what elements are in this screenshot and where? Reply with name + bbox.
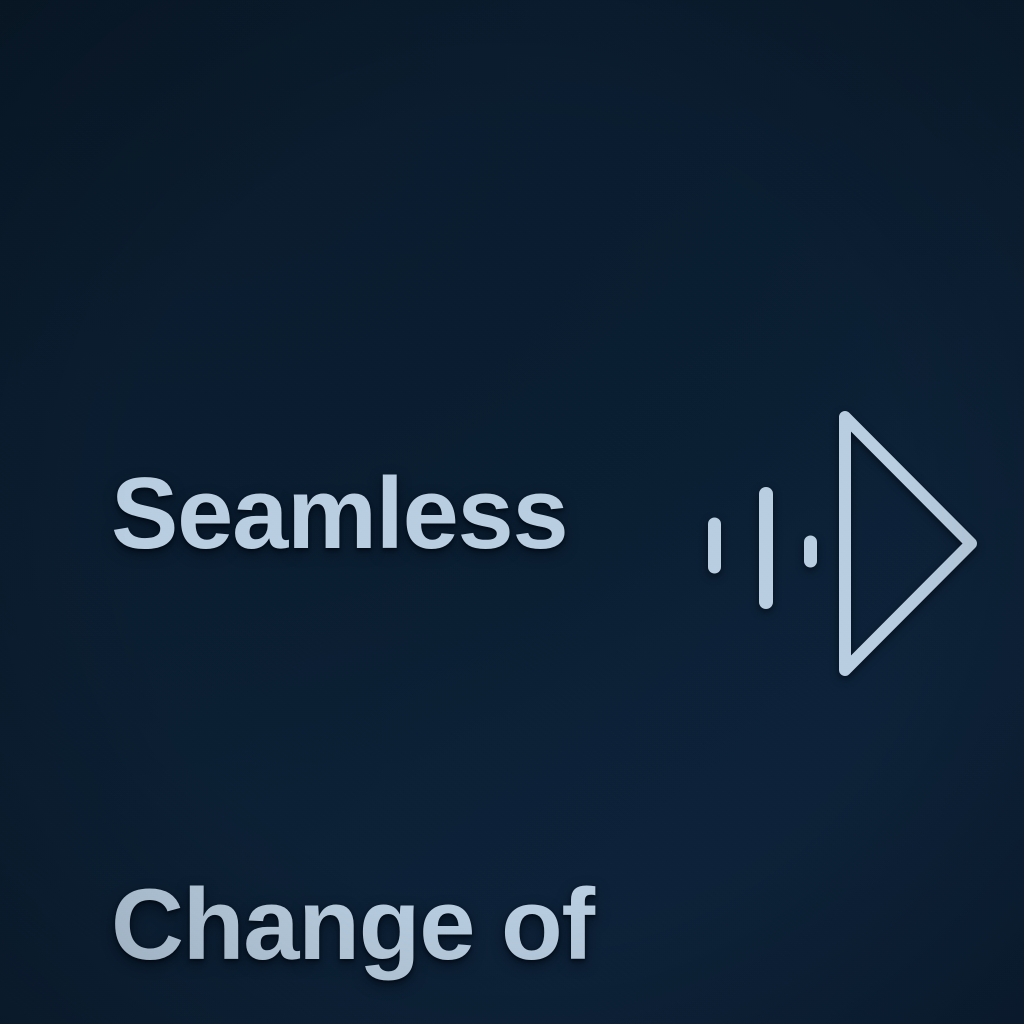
poster-canvas: Seamless Change of Sounds and Effects	[0, 0, 1024, 1024]
headline-line-2: Change of	[111, 857, 751, 994]
sound-play-icon	[690, 398, 990, 690]
play-triangle	[845, 417, 971, 670]
headline: Seamless Change of Sounds and Effects	[111, 172, 751, 1024]
headline-line-1: Seamless	[111, 446, 751, 583]
